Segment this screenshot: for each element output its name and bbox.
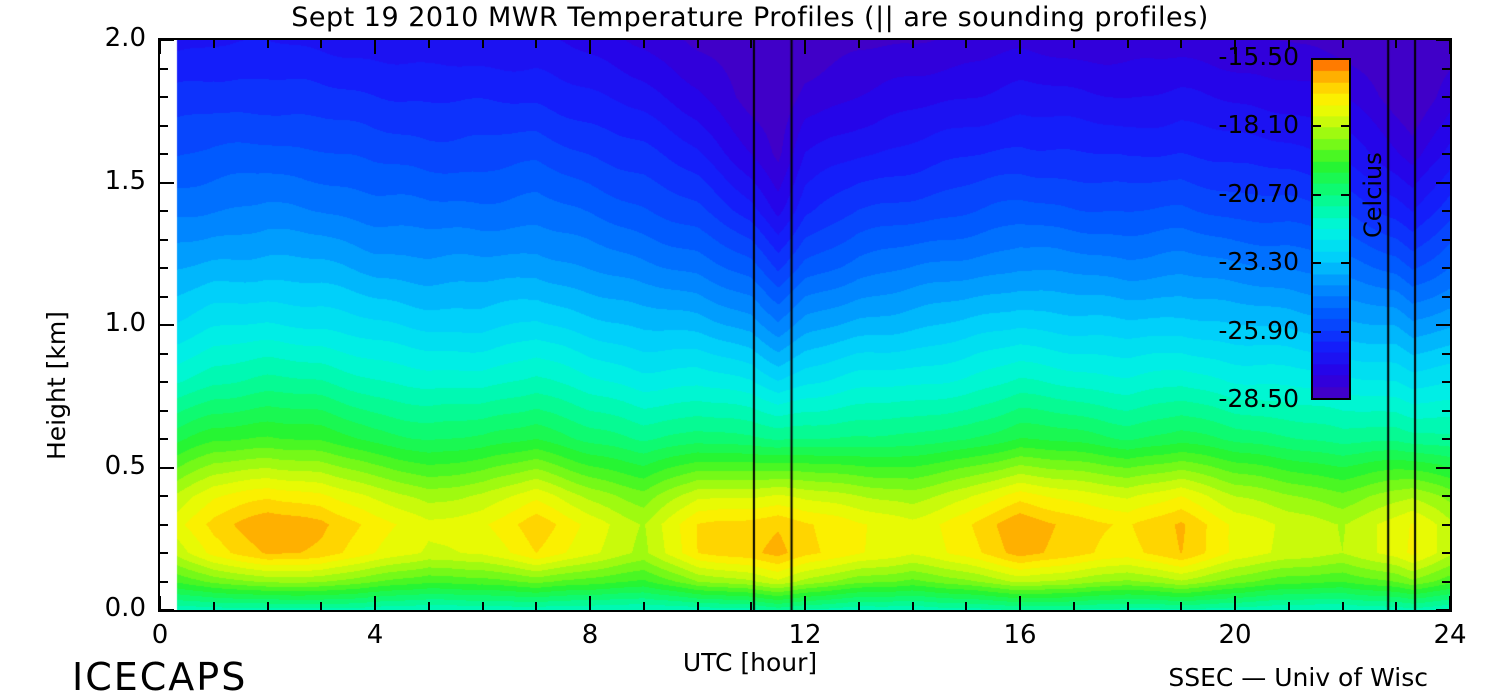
y-tick-label: 1.0 [18, 308, 146, 338]
x-minor-tick-top [1180, 40, 1182, 48]
y-minor-tick-left [160, 495, 168, 497]
x-minor-tick-top [320, 40, 322, 48]
y-major-tick-left [160, 467, 174, 469]
y-minor-tick-right [1442, 581, 1450, 583]
x-major-tick-bottom [1234, 596, 1236, 610]
colorbar-tick [1341, 125, 1350, 127]
y-minor-tick-left [160, 353, 168, 355]
x-major-tick-bottom [1449, 596, 1451, 610]
x-minor-tick-bottom [1073, 602, 1075, 610]
y-minor-tick-right [1442, 125, 1450, 127]
project-logo-text: ICECAPS [72, 655, 247, 699]
x-minor-tick-bottom [535, 602, 537, 610]
colorbar-tick-label: -20.70 [1189, 179, 1299, 208]
y-minor-tick-left [160, 210, 168, 212]
colorbar-title: Celcius [1359, 152, 1387, 238]
y-major-tick-left [160, 609, 174, 611]
x-minor-tick-bottom [267, 602, 269, 610]
y-minor-tick-left [160, 125, 168, 127]
x-minor-tick-bottom [750, 602, 752, 610]
x-minor-tick-top [750, 40, 752, 48]
y-minor-tick-right [1442, 296, 1450, 298]
x-minor-tick-top [1342, 40, 1344, 48]
x-minor-tick-bottom [858, 602, 860, 610]
y-minor-tick-right [1442, 495, 1450, 497]
x-major-tick-top [589, 40, 591, 54]
y-major-tick-right [1436, 609, 1450, 611]
x-minor-tick-top [267, 40, 269, 48]
x-major-tick-bottom [374, 596, 376, 610]
x-minor-tick-top [428, 40, 430, 48]
y-minor-tick-right [1442, 153, 1450, 155]
y-minor-tick-left [160, 524, 168, 526]
x-minor-tick-top [912, 40, 914, 48]
y-minor-tick-left [160, 267, 168, 269]
x-major-tick-top [159, 40, 161, 54]
y-minor-tick-left [160, 581, 168, 583]
x-tick-label: 16 [980, 620, 1060, 650]
colorbar-tick-label: -23.30 [1189, 247, 1299, 276]
x-minor-tick-top [965, 40, 967, 48]
y-tick-label: 2.0 [18, 23, 146, 53]
x-minor-tick-bottom [1180, 602, 1182, 610]
y-axis-title: Height [km] [42, 311, 71, 460]
x-major-tick-bottom [589, 596, 591, 610]
y-major-tick-left [160, 182, 174, 184]
y-minor-tick-right [1442, 267, 1450, 269]
y-minor-tick-left [160, 381, 168, 383]
x-minor-tick-top [535, 40, 537, 48]
y-minor-tick-left [160, 410, 168, 412]
colorbar-tick-label: -25.90 [1189, 316, 1299, 345]
y-tick-label: 0.5 [18, 451, 146, 481]
y-minor-tick-left [160, 239, 168, 241]
x-major-tick-top [804, 40, 806, 54]
x-minor-tick-top [213, 40, 215, 48]
x-major-tick-bottom [804, 596, 806, 610]
colorbar-tick-label: -15.50 [1189, 42, 1299, 71]
x-minor-tick-top [643, 40, 645, 48]
page-title: Sept 19 2010 MWR Temperature Profiles (|… [0, 2, 1500, 33]
x-major-tick-top [374, 40, 376, 54]
y-minor-tick-right [1442, 552, 1450, 554]
x-tick-label: 0 [120, 620, 200, 650]
x-minor-tick-top [1127, 40, 1129, 48]
y-minor-tick-right [1442, 410, 1450, 412]
y-minor-tick-right [1442, 239, 1450, 241]
x-minor-tick-bottom [1395, 602, 1397, 610]
y-minor-tick-left [160, 552, 168, 554]
y-minor-tick-left [160, 324, 168, 326]
x-minor-tick-bottom [912, 602, 914, 610]
x-minor-tick-top [1073, 40, 1075, 48]
colorbar-tick-label: -28.50 [1189, 384, 1299, 413]
x-tick-label: 20 [1195, 620, 1275, 650]
y-minor-tick-right [1442, 96, 1450, 98]
x-minor-tick-top [482, 40, 484, 48]
y-major-tick-right [1436, 467, 1450, 469]
y-minor-tick-right [1442, 68, 1450, 70]
x-minor-tick-bottom [1127, 602, 1129, 610]
x-tick-label: 12 [765, 620, 845, 650]
y-minor-tick-left [160, 96, 168, 98]
x-minor-tick-top [858, 40, 860, 48]
colorbar-tick [1341, 331, 1350, 333]
x-minor-tick-bottom [320, 602, 322, 610]
x-minor-tick-bottom [643, 602, 645, 610]
colorbar-tick [1312, 194, 1321, 196]
colorbar-gradient [1313, 60, 1349, 398]
x-minor-tick-bottom [965, 602, 967, 610]
x-minor-tick-top [1395, 40, 1397, 48]
y-minor-tick-right [1442, 210, 1450, 212]
colorbar-tick [1341, 194, 1350, 196]
x-major-tick-top [1019, 40, 1021, 54]
y-minor-tick-left [160, 153, 168, 155]
y-tick-label: 0.0 [18, 593, 146, 623]
y-major-tick-left [160, 39, 174, 41]
y-minor-tick-right [1442, 524, 1450, 526]
y-major-tick-right [1436, 39, 1450, 41]
x-minor-tick-bottom [213, 602, 215, 610]
x-minor-tick-top [697, 40, 699, 48]
x-tick-label: 8 [550, 620, 630, 650]
y-major-tick-right [1436, 182, 1450, 184]
colorbar-tick [1312, 331, 1321, 333]
x-tick-label: 24 [1410, 620, 1490, 650]
y-minor-tick-left [160, 438, 168, 440]
x-minor-tick-bottom [1288, 602, 1290, 610]
x-minor-tick-bottom [428, 602, 430, 610]
colorbar-tick [1312, 262, 1321, 264]
colorbar-tick [1341, 262, 1350, 264]
x-minor-tick-bottom [1342, 602, 1344, 610]
x-tick-label: 4 [335, 620, 415, 650]
colorbar [1311, 58, 1351, 400]
x-minor-tick-bottom [697, 602, 699, 610]
y-minor-tick-right [1442, 324, 1450, 326]
y-minor-tick-right [1442, 438, 1450, 440]
colorbar-tick [1312, 125, 1321, 127]
y-tick-label: 1.5 [18, 166, 146, 196]
x-major-tick-bottom [1019, 596, 1021, 610]
y-minor-tick-right [1442, 381, 1450, 383]
y-minor-tick-left [160, 296, 168, 298]
x-minor-tick-bottom [482, 602, 484, 610]
y-minor-tick-right [1442, 353, 1450, 355]
institution-credit: SSEC — Univ of Wisc [1168, 663, 1428, 692]
colorbar-tick-label: -18.10 [1189, 110, 1299, 139]
x-major-tick-top [1449, 40, 1451, 54]
y-minor-tick-left [160, 68, 168, 70]
x-major-tick-bottom [159, 596, 161, 610]
